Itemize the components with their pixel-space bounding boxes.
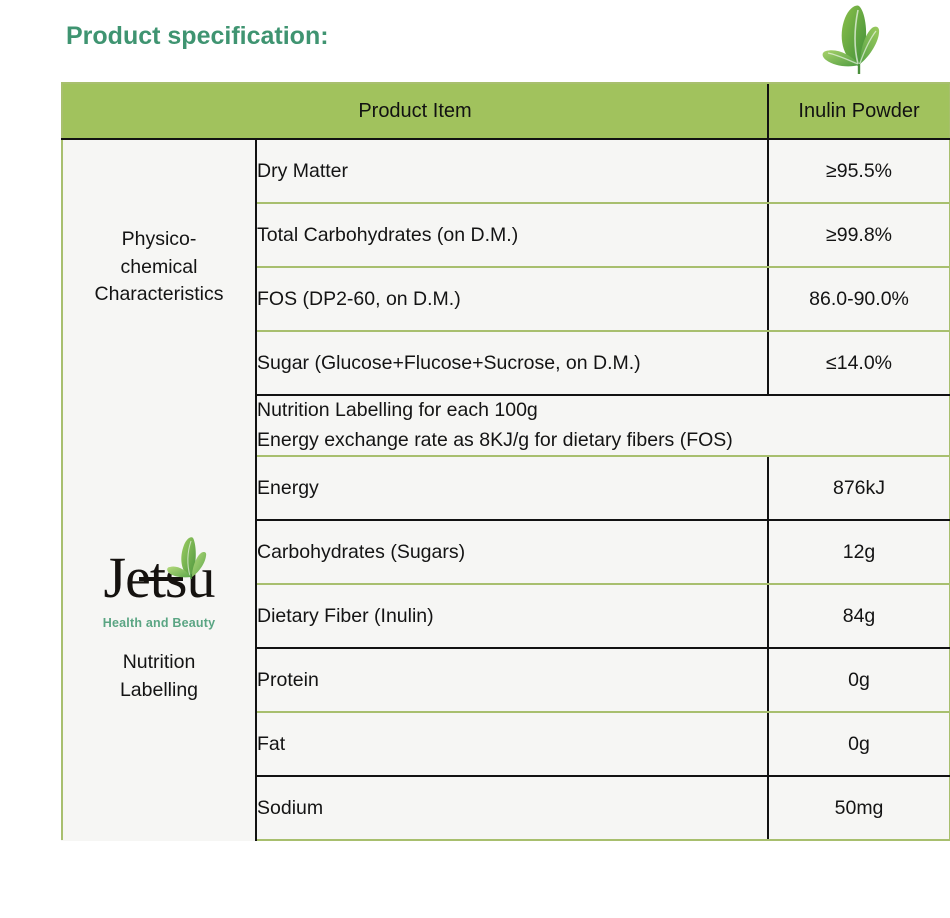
header-product-item: Product Item [62,83,768,139]
section-label-line: Nutrition [63,649,255,677]
row-name-protein: Protein [256,648,768,712]
header-inulin-powder: Inulin Powder [768,83,950,139]
jetsu-leaf-icon [163,535,215,579]
nutrition-note-cell: Nutrition Labelling for each 100g Energy… [256,395,950,456]
jetsu-brand-logo: Jetsu [63,531,255,649]
row-name-sugar: Sugar (Glucose+Flucose+Sucrose, on D.M.) [256,331,768,395]
nutrition-note-line: Energy exchange rate as 8KJ/g for dietar… [257,426,949,456]
row-value-protein: 0g [768,648,950,712]
section-label-line: Labelling [63,677,255,705]
row-name-fos: FOS (DP2-60, on D.M.) [256,267,768,331]
row-value-carbohydrates-sugars: 12g [768,520,950,584]
row-value-energy: 876kJ [768,456,950,520]
product-specification-table: Product Item Inulin Powder Physico- chem… [61,82,950,841]
row-value-fat: 0g [768,712,950,776]
row-name-sodium: Sodium [256,776,768,840]
section-label-nutrition-labelling: Jetsu [62,395,256,840]
nutrition-note-line: Nutrition Labelling for each 100g [257,396,949,426]
table-row: Physico- chemical Characteristics Dry Ma… [62,139,950,203]
leaf-sprig-logo [818,2,896,76]
row-value-total-carbohydrates: ≥99.8% [768,203,950,267]
page-title: Product specification: [66,22,329,51]
section-label-line: Characteristics [63,281,255,309]
row-name-fat: Fat [256,712,768,776]
row-value-dietary-fiber: 84g [768,584,950,648]
row-name-dietary-fiber: Dietary Fiber (Inulin) [256,584,768,648]
row-name-carbohydrates-sugars: Carbohydrates (Sugars) [256,520,768,584]
row-value-sodium: 50mg [768,776,950,840]
table-row: Jetsu [62,395,950,456]
row-name-total-carbohydrates: Total Carbohydrates (on D.M.) [256,203,768,267]
row-name-energy: Energy [256,456,768,520]
product-specification-page: Product specification: [0,0,950,918]
row-value-sugar: ≤14.0% [768,331,950,395]
table-header-row: Product Item Inulin Powder [62,83,950,139]
jetsu-tagline: Health and Beauty [83,615,235,633]
row-name-dry-matter: Dry Matter [256,139,768,203]
row-value-fos: 86.0-90.0% [768,267,950,331]
section-label-line: chemical [63,254,255,282]
section-label-line: Physico- [63,226,255,254]
row-value-dry-matter: ≥95.5% [768,139,950,203]
title-bar: Product specification: [0,0,950,82]
section-label-physico-chemical: Physico- chemical Characteristics [62,139,256,395]
